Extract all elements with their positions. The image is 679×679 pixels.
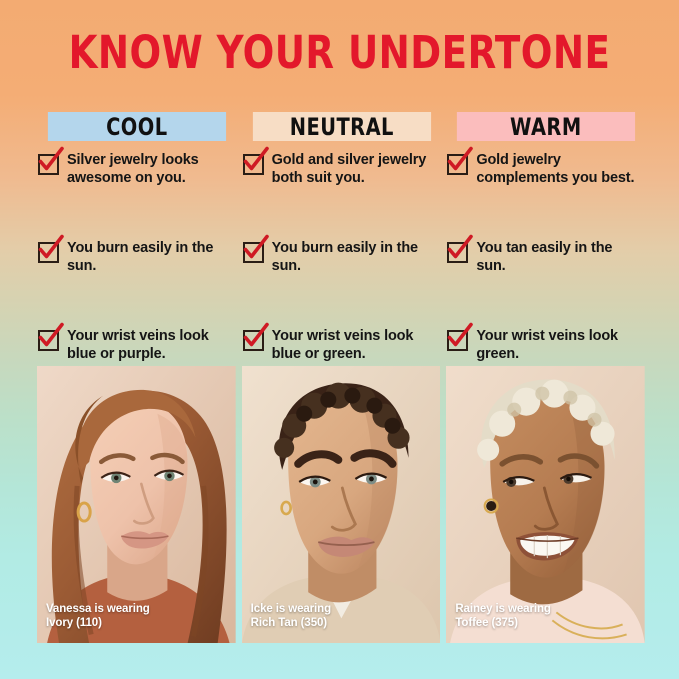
checklist-item[interactable]: You tan easily in the sun.: [447, 240, 645, 328]
checklist-column-neutral: Gold and silver jewelry both suit you. Y…: [243, 152, 441, 363]
checklist-column-cool: Silver jewelry looks awesome on you. You…: [38, 152, 236, 363]
checklist-item[interactable]: Silver jewelry looks awesome on you.: [38, 152, 236, 240]
column-header-neutral: NEUTRAL: [253, 112, 431, 141]
column-header-cool-label: COOL: [106, 113, 167, 141]
checkbox-square-icon[interactable]: [243, 242, 264, 263]
column-header-cool: COOL: [48, 112, 226, 141]
check-mark-icon: [37, 147, 65, 175]
checklist-item[interactable]: Your wrist veins look green.: [447, 328, 645, 363]
check-mark-icon: [446, 147, 474, 175]
checklist-item-label: You burn easily in the sun.: [272, 240, 441, 275]
page-title: KNOW YOUR UNDERTONE: [27, 28, 652, 78]
checklist-item-label: Your wrist veins look blue or green.: [272, 328, 441, 363]
checkbox-square-icon[interactable]: [447, 242, 468, 263]
check-mark-icon: [242, 235, 270, 263]
caption-line-2: Ivory (110): [46, 617, 150, 631]
column-header-warm: WARM: [457, 112, 635, 141]
checklist-item[interactable]: You burn easily in the sun.: [243, 240, 441, 328]
caption-line-1: Vanessa is wearing: [46, 603, 150, 617]
checklist-item[interactable]: You burn easily in the sun.: [38, 240, 236, 328]
checkbox-square-icon[interactable]: [447, 154, 468, 175]
checklist-item[interactable]: Gold and silver jewelry both suit you.: [243, 152, 441, 240]
caption-line-1: Rainey is wearing: [455, 603, 550, 617]
checklist-item-label: Your wrist veins look blue or purple.: [67, 328, 236, 363]
checklist-columns: Silver jewelry looks awesome on you. You…: [38, 152, 645, 363]
model-photo-rainey[interactable]: Rainey is wearing Toffee (375): [446, 366, 645, 643]
column-header-warm-label: WARM: [510, 113, 582, 141]
check-mark-icon: [37, 235, 65, 263]
checkbox-square-icon[interactable]: [447, 330, 468, 351]
column-header-neutral-label: NEUTRAL: [289, 113, 393, 141]
checklist-item-label: Gold and silver jewelry both suit you.: [272, 152, 441, 187]
checklist-item-label: Your wrist veins look green.: [476, 328, 645, 363]
caption-line-1: Icke is wearing: [251, 603, 331, 617]
model-photo-row: Vanessa is wearing Ivory (110): [37, 366, 645, 643]
column-headers: COOL NEUTRAL WARM: [38, 112, 645, 141]
check-mark-icon: [446, 323, 474, 351]
photo-caption-vanessa: Vanessa is wearing Ivory (110): [46, 603, 150, 630]
checkbox-square-icon[interactable]: [38, 330, 59, 351]
checkbox-square-icon[interactable]: [38, 242, 59, 263]
check-mark-icon: [242, 323, 270, 351]
checklist-item-label: You burn easily in the sun.: [67, 240, 236, 275]
photo-caption-rainey: Rainey is wearing Toffee (375): [455, 603, 550, 630]
checkbox-square-icon[interactable]: [243, 154, 264, 175]
portrait-image-icke: [242, 366, 441, 643]
portrait-image-vanessa: [37, 366, 236, 643]
undertone-infographic: KNOW YOUR UNDERTONE COOL NEUTRAL WARM Si…: [0, 0, 679, 679]
checkbox-square-icon[interactable]: [243, 330, 264, 351]
checklist-item-label: You tan easily in the sun.: [476, 240, 645, 275]
caption-line-2: Toffee (375): [455, 617, 550, 631]
caption-line-2: Rich Tan (350): [251, 617, 331, 631]
check-mark-icon: [242, 147, 270, 175]
photo-caption-icke: Icke is wearing Rich Tan (350): [251, 603, 331, 630]
checklist-item[interactable]: Gold jewelry complements you best.: [447, 152, 645, 240]
check-mark-icon: [446, 235, 474, 263]
model-photo-vanessa[interactable]: Vanessa is wearing Ivory (110): [37, 366, 236, 643]
checklist-item[interactable]: Your wrist veins look blue or purple.: [38, 328, 236, 363]
portrait-image-rainey: [446, 366, 645, 643]
check-mark-icon: [37, 323, 65, 351]
model-photo-icke[interactable]: Icke is wearing Rich Tan (350): [242, 366, 441, 643]
checklist-column-warm: Gold jewelry complements you best. You t…: [447, 152, 645, 363]
checkbox-square-icon[interactable]: [38, 154, 59, 175]
checklist-item-label: Silver jewelry looks awesome on you.: [67, 152, 236, 187]
checklist-item[interactable]: Your wrist veins look blue or green.: [243, 328, 441, 363]
checklist-item-label: Gold jewelry complements you best.: [476, 152, 645, 187]
